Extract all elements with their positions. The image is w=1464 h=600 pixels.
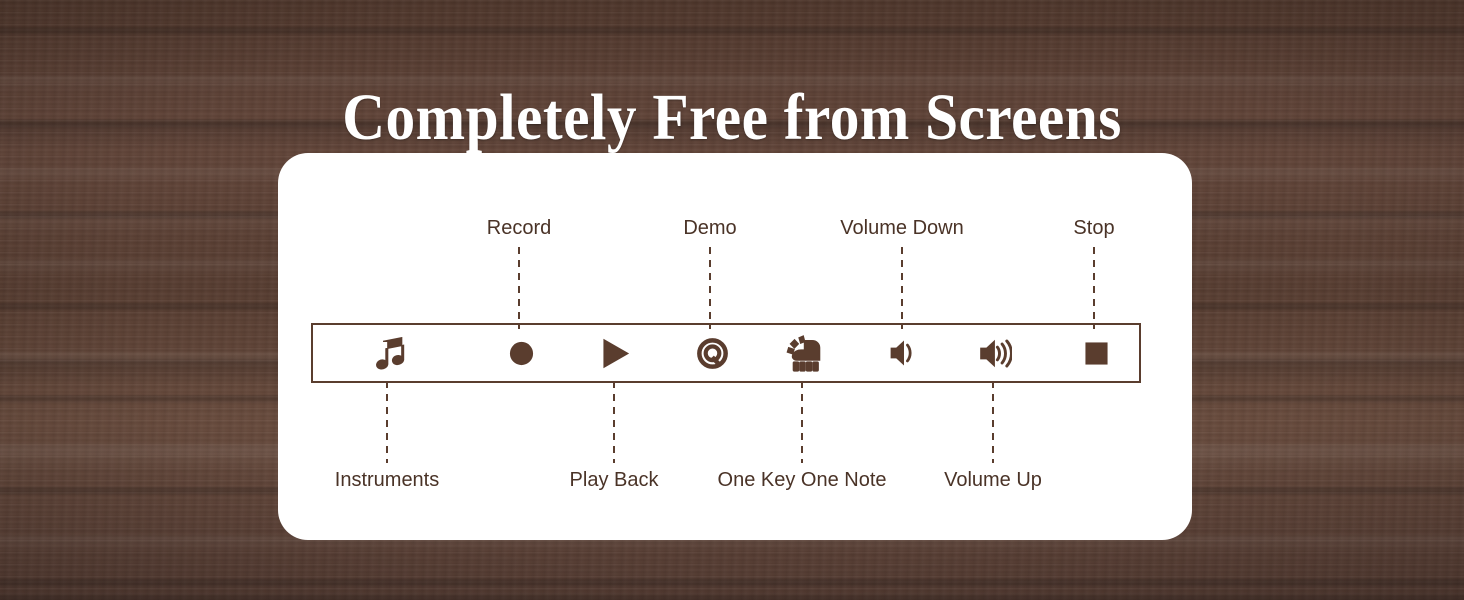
leader-line-volume-down [901,247,903,329]
control-button-volume-up[interactable] [960,325,1030,381]
leader-line-one-key-one-note [801,381,803,463]
leader-line-demo [709,247,711,329]
label-volume-down: Volume Down [840,216,963,240]
control-button-record[interactable] [486,325,556,381]
hand-on-keys-icon [786,335,823,372]
control-button-play-back[interactable] [581,325,651,381]
label-one-key-one-note: One Key One Note [718,468,887,492]
control-button-volume-down[interactable] [869,325,939,381]
page-title: Completely Free from Screens [73,78,1391,158]
leader-line-instruments [386,381,388,463]
label-stop: Stop [1073,216,1114,240]
label-play-back: Play Back [570,468,659,492]
record-dot-icon [508,340,535,367]
leader-line-stop [1093,247,1095,329]
leader-line-play-back [613,381,615,463]
screenshot-stage: Completely Free from Screens Instruments… [0,0,1464,600]
label-instruments: Instruments [335,468,439,492]
demo-q-icon [696,337,729,370]
speaker-high-icon [979,337,1012,370]
leader-line-record [518,247,520,329]
control-button-strip [311,323,1141,383]
play-triangle-icon [600,338,632,369]
stop-square-icon [1084,341,1109,366]
control-panel-card: InstrumentsRecordPlay BackDemoOne Key On… [278,153,1192,540]
label-demo: Demo [683,216,736,240]
control-button-demo[interactable] [677,325,747,381]
leader-line-volume-up [992,381,994,463]
control-button-stop[interactable] [1061,325,1131,381]
label-volume-up: Volume Up [944,468,1042,492]
speaker-low-icon [889,338,919,368]
music-note-icon [372,337,407,370]
label-record: Record [487,216,551,240]
control-button-instruments[interactable] [354,325,424,381]
control-button-one-key-one-note[interactable] [769,325,839,381]
control-panel-diagram: InstrumentsRecordPlay BackDemoOne Key On… [278,153,1192,540]
